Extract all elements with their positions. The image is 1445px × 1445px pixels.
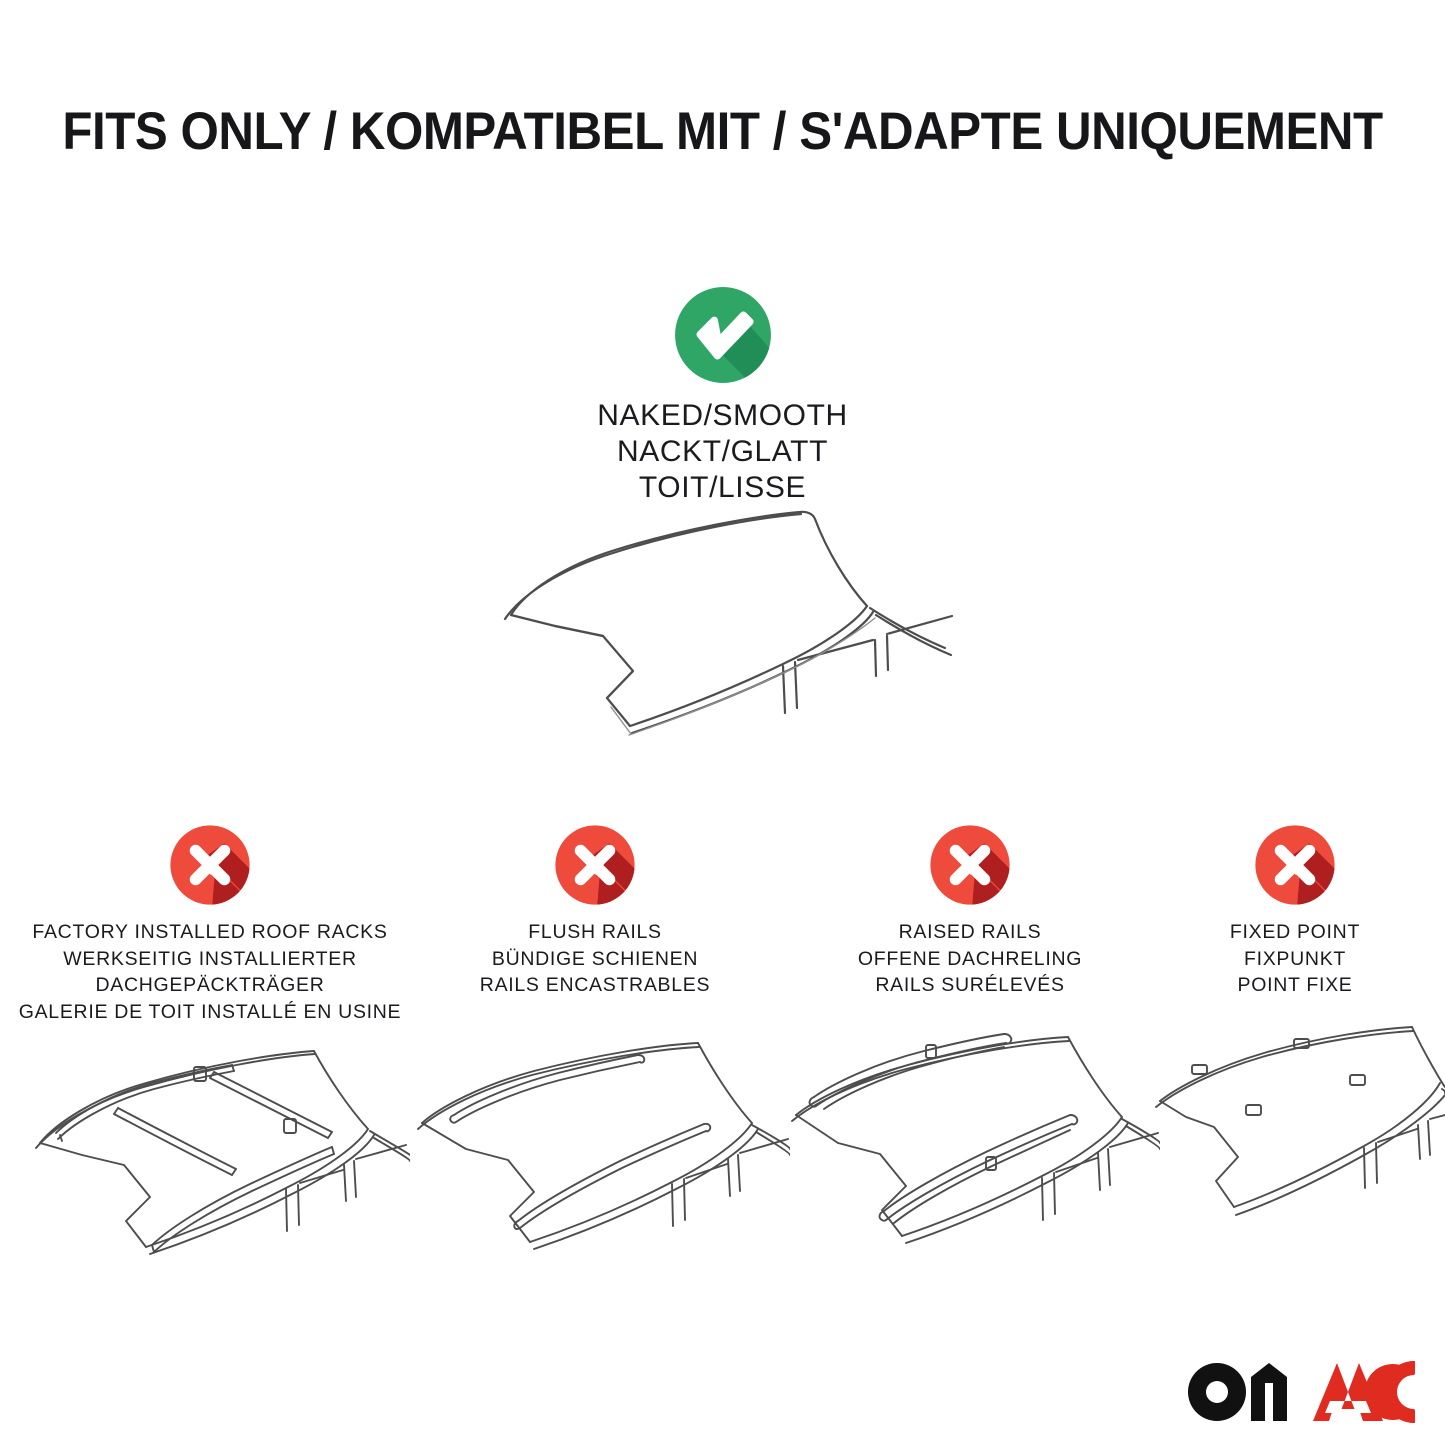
page-title: FITS ONLY / KOMPATIBEL MIT / S'ADAPTE UN…: [51, 101, 1395, 162]
flush-rails-illustration: [400, 1025, 790, 1275]
caption-line-3: RAILS SURÉLEVÉS: [780, 972, 1160, 999]
check-circle-icon: [672, 284, 774, 386]
caption-line-2: WERKSEITIG INSTALLIERTER: [10, 946, 410, 973]
incompatible-item-factory-installed-roof-racks: FACTORY INSTALLED ROOF RACKS WERKSEITIG …: [10, 820, 410, 1025]
cross-circle-icon: [165, 820, 255, 910]
fixed-point-roof-illustration: [1150, 1025, 1445, 1275]
incompatible-item-flush-rails: FLUSH RAILS BÜNDIGE SCHIENEN RAILS ENCAS…: [400, 820, 790, 999]
logo-letter-o: [1188, 1363, 1246, 1421]
incompatible-caption: FACTORY INSTALLED ROOF RACKS WERKSEITIG …: [10, 919, 410, 1025]
caption-line-2: BÜNDIGE SCHIENEN: [400, 946, 790, 973]
caption-line-3: DACHGEPÄCKTRÄGER: [10, 972, 410, 999]
caption-line-2: OFFENE DACHRELING: [780, 946, 1160, 973]
caption-line-1: RAISED RAILS: [780, 919, 1160, 946]
compatible-section: NAKED/SMOOTH NACKT/GLATT TOIT/LISSE: [0, 284, 1445, 506]
incompatible-caption: FLUSH RAILS BÜNDIGE SCHIENEN RAILS ENCAS…: [400, 919, 790, 999]
cross-circle-icon: [1250, 820, 1340, 910]
incompatible-section: FACTORY INSTALLED ROOF RACKS WERKSEITIG …: [0, 820, 1445, 1290]
omac-logo: OMAC: [1187, 1361, 1415, 1423]
caption-line-2: FIXPUNKT: [1150, 946, 1440, 973]
fitment-infographic: FITS ONLY / KOMPATIBEL MIT / S'ADAPTE UN…: [0, 0, 1445, 1445]
raised-rails-illustration: [780, 1025, 1160, 1275]
roof-with-crossbars-illustration: [10, 1025, 410, 1275]
compatible-line-en: NAKED/SMOOTH: [0, 398, 1445, 434]
caption-line-1: FACTORY INSTALLED ROOF RACKS: [10, 919, 410, 946]
cross-circle-icon: [925, 820, 1015, 910]
caption-line-1: FLUSH RAILS: [400, 919, 790, 946]
logo-letter-m: [1251, 1363, 1287, 1421]
smooth-roof-illustration: [455, 488, 1015, 748]
incompatible-item-fixed-point: FIXED POINT FIXPUNKT POINT FIXE: [1150, 820, 1440, 999]
caption-line-3: POINT FIXE: [1150, 972, 1440, 999]
compatible-line-de: NACKT/GLATT: [0, 434, 1445, 470]
incompatible-caption: FIXED POINT FIXPUNKT POINT FIXE: [1150, 919, 1440, 999]
caption-line-1: FIXED POINT: [1150, 919, 1440, 946]
caption-line-4: GALERIE DE TOIT INSTALLÉ EN USINE: [10, 999, 410, 1026]
caption-line-3: RAILS ENCASTRABLES: [400, 972, 790, 999]
incompatible-item-raised-rails: RAISED RAILS OFFENE DACHRELING RAILS SUR…: [780, 820, 1160, 999]
incompatible-caption: RAISED RAILS OFFENE DACHRELING RAILS SUR…: [780, 919, 1160, 999]
cross-circle-icon: [550, 820, 640, 910]
